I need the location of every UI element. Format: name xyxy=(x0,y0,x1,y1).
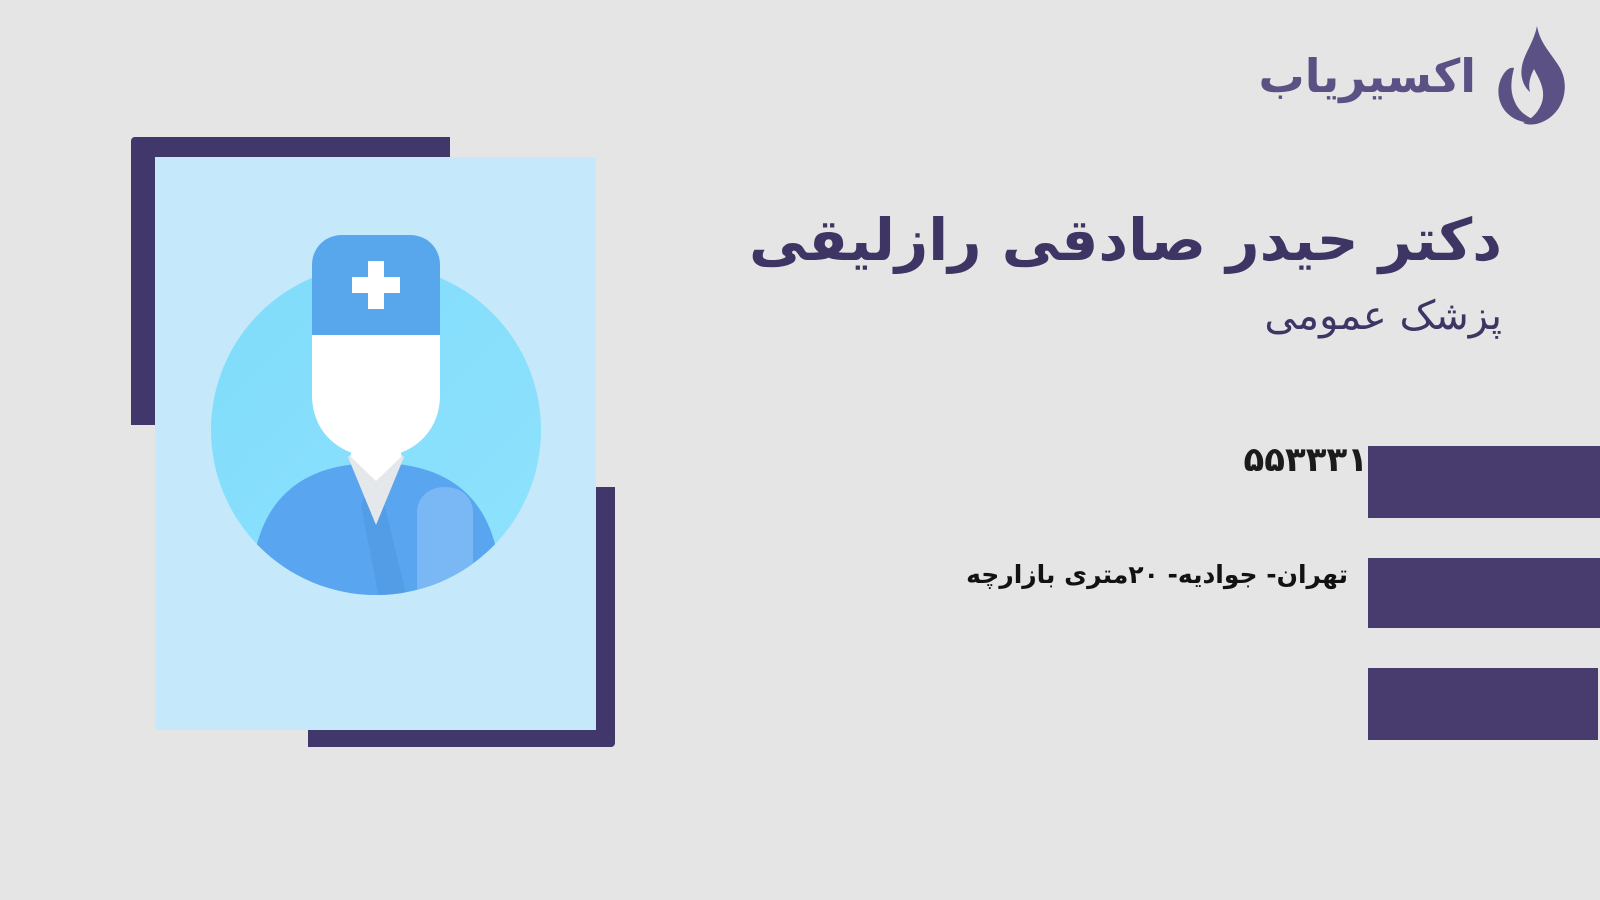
brand-name: اکسیریاب xyxy=(1259,53,1477,99)
doctor-info-block: دکتر حیدر صادقی رازلیقی پزشک عمومی xyxy=(602,206,1502,340)
doctor-avatar-icon xyxy=(211,205,541,635)
flame-droplet-icon xyxy=(1490,24,1568,128)
doctor-code-row: ۵۵۳۳۳۱ xyxy=(1243,443,1368,477)
doctor-photo-card xyxy=(155,157,596,730)
doctor-specialty: پزشک عمومی xyxy=(602,292,1502,340)
brand-logo[interactable]: اکسیریاب xyxy=(1259,24,1569,128)
doctor-name: دکتر حیدر صادقی رازلیقی xyxy=(602,206,1502,274)
decor-bar-3 xyxy=(1368,668,1598,740)
doctor-address-row: تهران- جوادیه- ۲۰متری بازارچه xyxy=(966,562,1348,588)
doctor-address: تهران- جوادیه- ۲۰متری بازارچه xyxy=(966,560,1348,589)
decor-bar-1 xyxy=(1368,446,1600,518)
doctor-code: ۵۵۳۳۳۱ xyxy=(1243,440,1368,480)
illustration-block xyxy=(131,137,621,747)
decor-bar-2 xyxy=(1368,558,1600,628)
business-card-canvas: اکسیریاب xyxy=(0,0,1600,900)
